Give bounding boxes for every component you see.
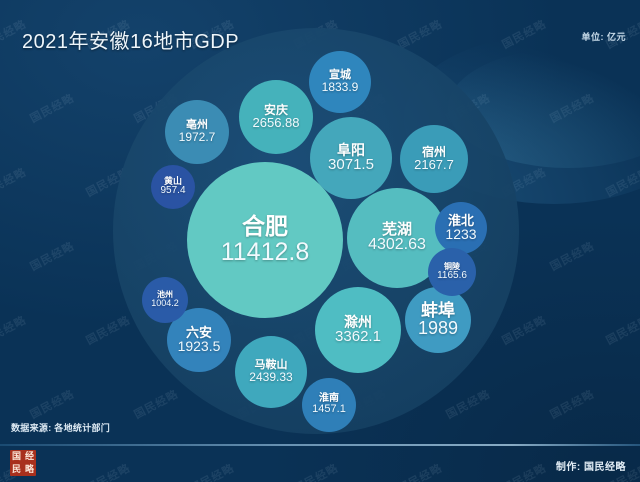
bubble-value: 1165.6 [437,271,467,281]
bubble-value: 1004.2 [151,299,179,308]
bubble-value: 1233 [445,227,476,242]
footer-divider [0,444,640,446]
chart-canvas: 国民经略国民经略国民经略国民经略国民经略国民经略国民经略国民经略国民经略国民经略… [0,0,640,482]
bubble-value: 11412.8 [221,239,310,265]
bubble-value: 2167.7 [414,158,454,172]
bubble-铜陵[interactable]: 铜陵1165.6 [428,248,476,296]
bubble-滁州[interactable]: 滁州3362.1 [315,287,401,373]
bubble-label: 淮北 [448,214,474,228]
unit-label: 单位: 亿元 [582,30,627,43]
bubble-宣城[interactable]: 宣城1833.9 [309,51,371,113]
brand-seal-logo: 国经民略 [10,450,36,476]
bubble-value: 2439.33 [249,371,292,383]
bubble-阜阳[interactable]: 阜阳3071.5 [310,117,392,199]
page-title: 2021年安徽16地市GDP [22,25,239,54]
bubble-value: 1972.7 [179,131,216,143]
bubble-蚌埠[interactable]: 蚌埠1989 [405,287,471,353]
bubble-value: 3362.1 [335,329,381,345]
bubble-label: 合肥 [242,215,288,239]
bubble-安庆[interactable]: 安庆2656.88 [239,80,313,154]
bubble-value: 1457.1 [312,404,346,415]
bubble-黄山[interactable]: 黄山957.4 [151,165,195,209]
bubble-淮北[interactable]: 淮北1233 [435,202,487,254]
seal-glyph: 民 [12,465,21,474]
bubble-label: 蚌埠 [421,302,455,320]
bubble-label: 六安 [186,326,212,340]
bubble-亳州[interactable]: 亳州1972.7 [165,100,229,164]
bubble-value: 1833.9 [322,81,359,93]
bubble-value: 1989 [418,319,458,338]
bubble-value: 2656.88 [253,116,300,130]
bubble-value: 4302.63 [368,237,426,254]
bubble-value: 3071.5 [328,157,374,173]
bubble-淮南[interactable]: 淮南1457.1 [302,378,356,432]
bubble-宿州[interactable]: 宿州2167.7 [400,125,468,193]
credit-note: 制作: 国民经略 [556,458,626,473]
source-note: 数据来源: 各地统计部门 [11,421,110,434]
bubble-池州[interactable]: 池州1004.2 [142,277,188,323]
seal-glyph: 经 [25,452,34,461]
bubble-马鞍山[interactable]: 马鞍山2439.33 [235,336,307,408]
seal-glyph: 国 [12,452,21,461]
seal-glyph: 略 [25,465,34,474]
bubble-value: 1923.5 [178,339,221,354]
bubble-value: 957.4 [160,186,185,196]
bubble-label: 阜阳 [337,143,365,158]
bubble-label: 滁州 [344,315,372,330]
